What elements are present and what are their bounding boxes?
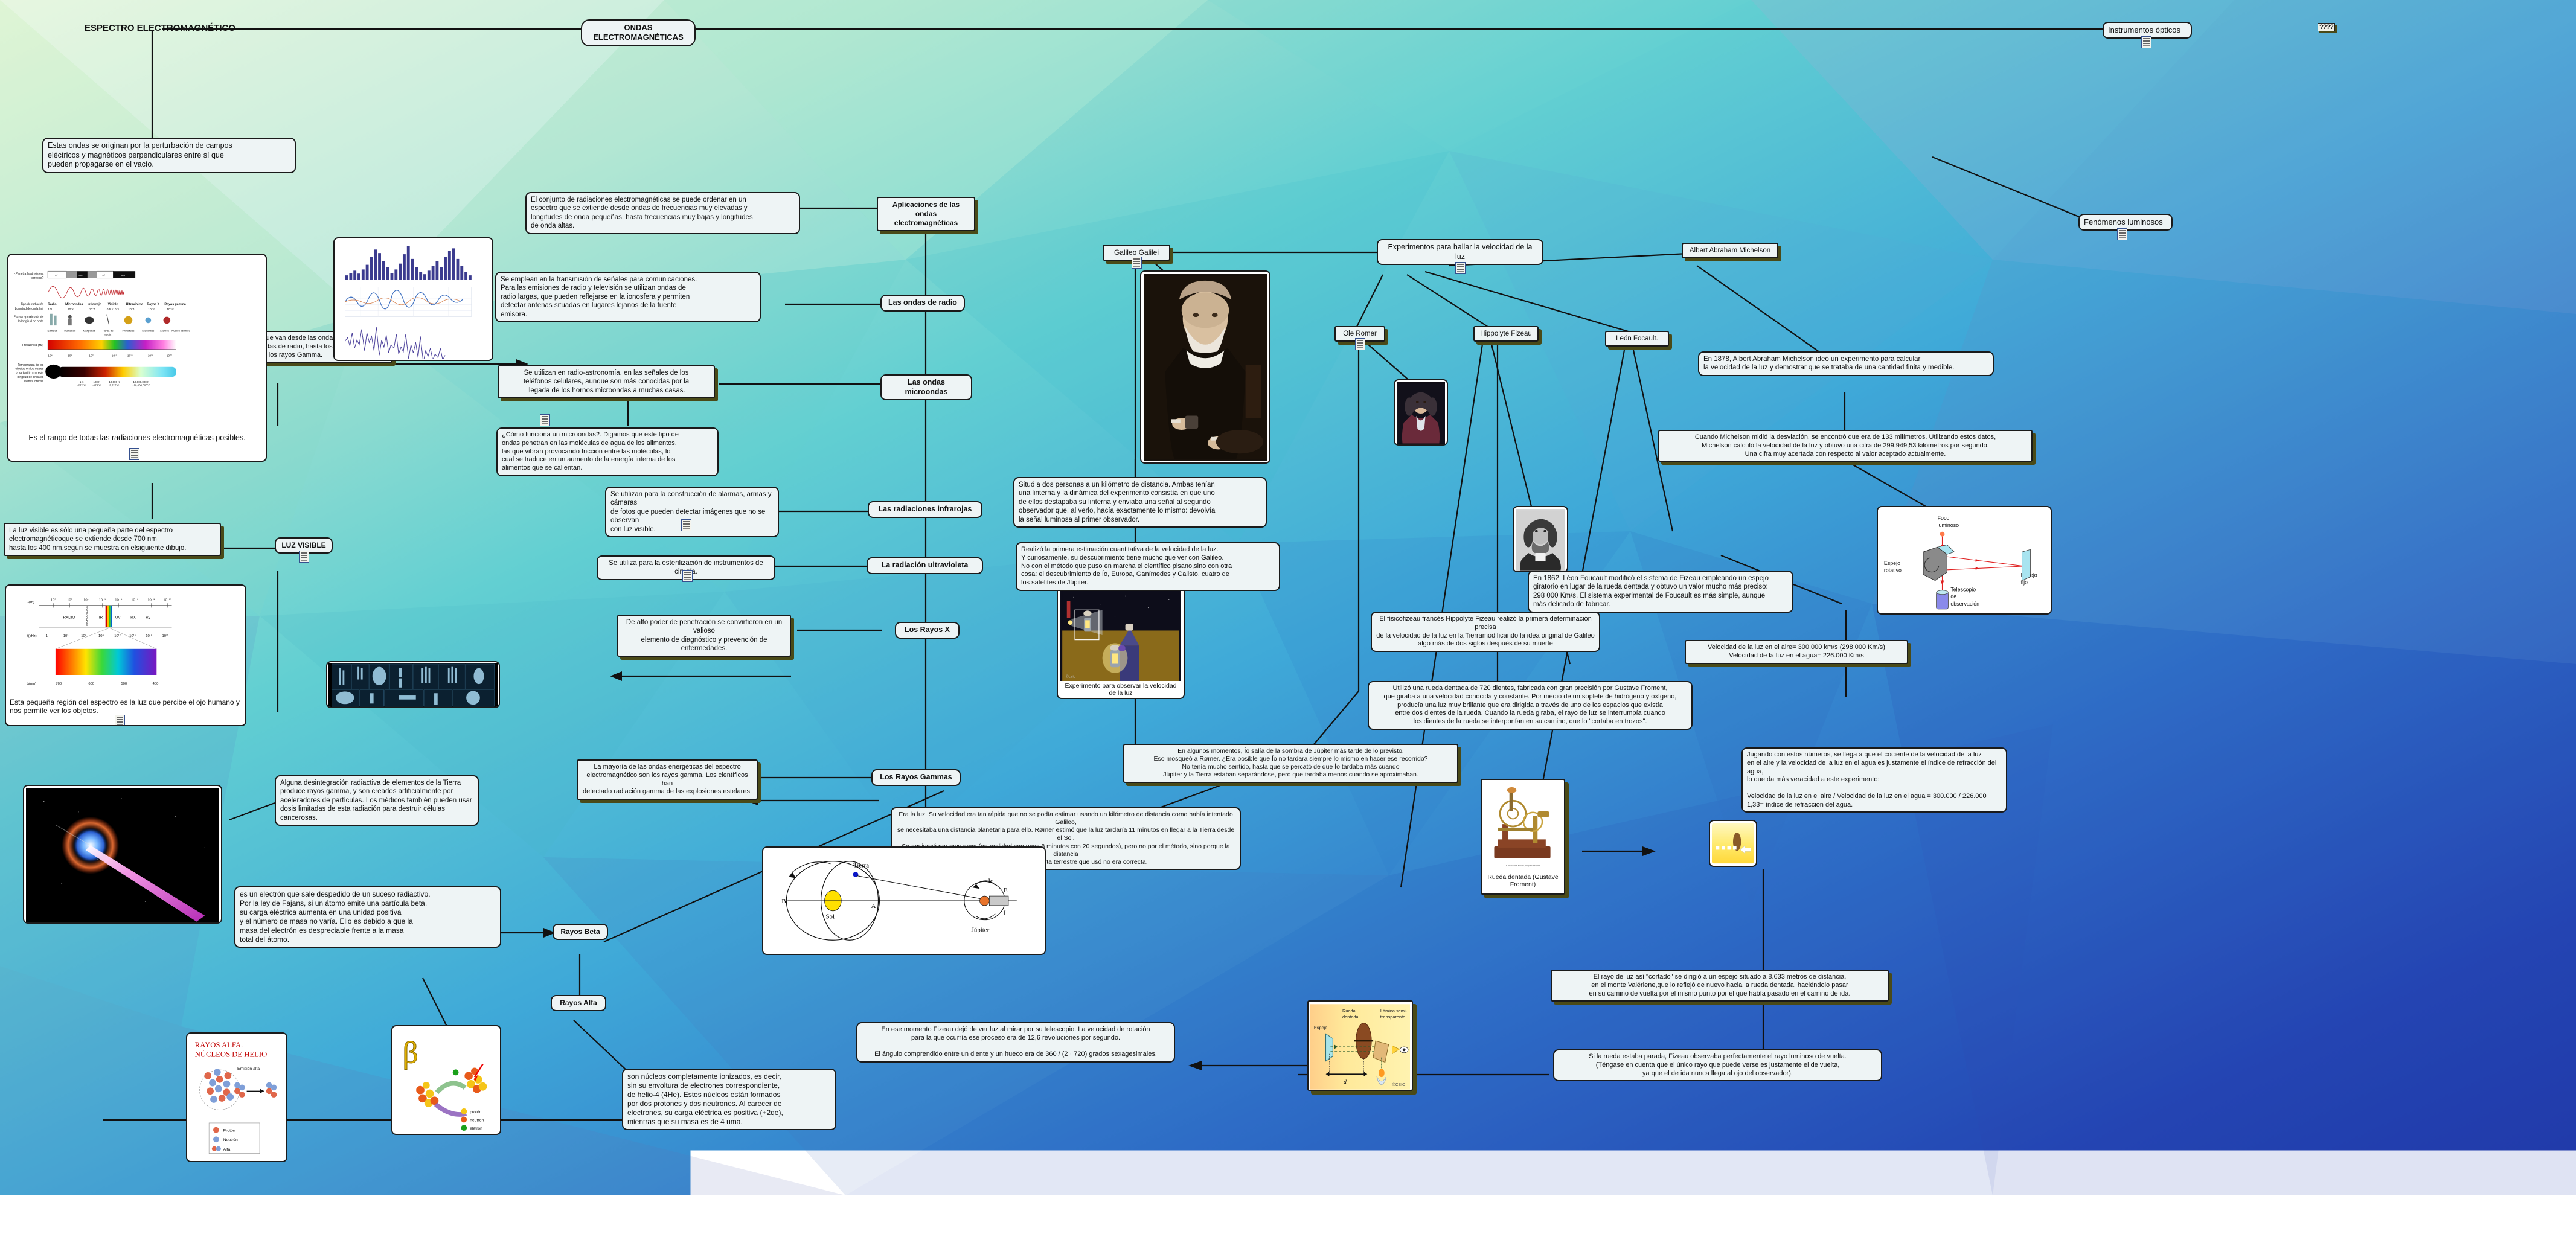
node-rayos-x-desc[interactable]: De alto poder de penetración se convirti… [617,615,791,657]
note-icon[interactable] [299,551,309,563]
svg-text:RADIO: RADIO [63,615,75,619]
node-experimentos-velocidad-luz[interactable]: Experimentos para hallar la velocidad de… [1377,239,1543,265]
svg-text:β: β [403,1036,418,1070]
node-galileo-desc[interactable]: Situó a dos personas a un kilómetro de d… [1013,477,1267,528]
node-infrarojas-desc[interactable]: Se utilizan para la construcción de alar… [605,487,779,537]
svg-text:10⁻¹⁰: 10⁻¹⁰ [148,308,155,312]
picture-luz-visible-espectro[interactable]: λ(m) 10⁵10³10¹ 10⁻¹10⁻⁴10⁻⁶ 10⁻⁹10⁻¹⁵ RA… [5,584,246,726]
node-fenomenos-luminosos[interactable]: Fenómenos luminosos [2078,214,2173,231]
note-icon[interactable] [681,519,691,531]
picture-radiografias-rayos-x[interactable] [326,661,500,708]
picture-desintegracion-beta[interactable]: β prótón nêutron elétron [391,1025,501,1135]
node-michelson-desc[interactable]: En 1878, Albert Abraham Michelson ideó u… [1698,351,1994,376]
svg-text:10⁻⁹: 10⁻⁹ [147,598,155,603]
svg-text:10³: 10³ [67,599,72,603]
svg-text:Átomos: Átomos [160,329,170,333]
svg-text:10¹⁵: 10¹⁵ [129,634,136,638]
node-origen-ondas[interactable]: Estas ondas se originan por la perturbac… [42,138,296,173]
node-fizeau-desc5[interactable]: En ese momento Fizeau dejó de ver luz al… [856,1022,1175,1063]
svg-text:Espejo: Espejo [1314,1025,1328,1031]
svg-text:Infrarrojo: Infrarrojo [88,302,101,306]
node-indice-refraccion[interactable]: Jugando con estos números, se llega a qu… [1741,747,2007,813]
svg-text:Neutrón: Neutrón [223,1138,238,1142]
svg-text:Sí: Sí [55,274,58,278]
svg-text:Espejo: Espejo [1884,560,1900,566]
node-microondas-desc2[interactable]: ¿Cómo funciona un microondas?. Digamos q… [496,427,719,476]
node-albert-michelson[interactable]: Albert Abraham Michelson [1682,243,1778,258]
note-icon[interactable] [682,570,693,582]
svg-text:10⁵: 10⁵ [51,598,57,603]
svg-text:Sí: Sí [102,274,105,278]
note-icon[interactable] [2141,36,2151,48]
svg-text:terrestre?: terrestre? [31,276,44,280]
node-ole-romer[interactable]: Ole Romer [1334,326,1385,342]
node-radiaciones-infrarojas[interactable]: Las radiaciones infrarojas [868,501,982,518]
svg-text:10¹²: 10¹² [114,634,120,638]
svg-text:0.5 x10⁻⁶: 0.5 x10⁻⁶ [107,308,119,312]
svg-text:aguja: aguja [104,333,111,336]
svg-text:10¹⁶: 10¹⁶ [127,354,133,357]
svg-text:10⁹: 10⁹ [98,634,104,638]
svg-text:Mariposas: Mariposas [83,330,95,333]
node-rayos-x[interactable]: Los Rayos X [895,622,960,639]
caption-rueda-dentada: Rueda dentada (Gustave Froment) [1484,872,1562,889]
svg-text:©CSIC: ©CSIC [1392,1082,1405,1087]
node-rayos-alfa-desc[interactable]: son núcleos completamente ionizados, es … [622,1069,836,1130]
svg-text:10³: 10³ [48,308,52,312]
svg-text:10⁻⁸: 10⁻⁸ [129,308,135,312]
svg-text:Temperatura de los: Temperatura de los [18,363,43,367]
note-icon[interactable] [1132,257,1142,269]
svg-text:10³: 10³ [63,634,69,638]
node-romer-desc2[interactable]: En algunos momentos, Ío salía de la somb… [1123,744,1458,783]
svg-text:IR: IR [99,615,103,619]
svg-text:-173°C: -173°C [92,384,101,387]
caption-espectro: Es el rango de todas las radiaciones ele… [11,432,263,443]
svg-text:Microondas: Microondas [65,302,83,306]
svg-text:RAYOS ALFA.: RAYOS ALFA. [195,1041,243,1049]
svg-text:Moléculas: Moléculas [142,330,155,333]
svg-text:Rueda: Rueda [1342,1008,1356,1014]
svg-text:10⁻⁴: 10⁻⁴ [115,598,123,603]
node-ondas-radio-desc[interactable]: Se emplean en la transmisión de señales … [495,272,761,322]
svg-text:10⁴: 10⁴ [48,354,52,357]
svg-text:10¹²: 10¹² [89,354,94,357]
svg-text:Visible: Visible [108,302,118,306]
svg-text:10⁻¹: 10⁻¹ [99,599,106,603]
node-rayos-gamma-desc[interactable]: La mayoría de las ondas energéticas del … [577,759,758,800]
svg-text:©csic: ©csic [1066,674,1076,679]
picture-galileo-portrait[interactable] [1140,270,1270,464]
node-leon-focault[interactable]: León Focault. [1605,331,1669,347]
node-ondas-microondas[interactable]: Las ondas microondas [880,374,972,400]
svg-text:No: No [121,274,125,278]
node-focault-desc[interactable]: En 1862, Léon Foucault modificó el siste… [1528,571,1793,613]
svg-text:Radio: Radio [48,302,57,306]
svg-text:600: 600 [88,682,95,686]
caption-experimento-galileo: Experimento para observar la velocidad d… [1060,681,1181,697]
svg-text:10²¹: 10²¹ [162,634,168,638]
svg-text:Punta de: Punta de [103,330,114,333]
node-velocidades-luz[interactable]: Velocidad de la luz en el aire= 300.000 … [1685,640,1908,664]
node-rayos-alfa[interactable]: Rayos Alfa [551,995,606,1011]
svg-text:Tierra: Tierra [853,862,869,869]
svg-text:elétron: elétron [470,1127,482,1131]
node-hippolyte-fizeau[interactable]: Hippolyte Fizeau [1473,326,1539,342]
svg-text:10⁻⁵: 10⁻⁵ [89,308,95,312]
picture-diagrama-fizeau[interactable]: Ruedadentada Lámina semi-transparente Es… [1307,1000,1413,1091]
svg-text:Rayos X: Rayos X [147,302,159,306]
svg-text:A: A [871,903,876,910]
node-rayos-gamma-desc2[interactable]: Alguna desintegración radiactiva de elem… [275,775,479,826]
svg-text:Rγ: Rγ [146,615,151,619]
root-node-ondas-electromagneticas[interactable]: ONDAS ELECTROMAGNÉTICAS [581,19,696,46]
svg-text:NÚCLEOS DE HELIO: NÚCLEOS DE HELIO [195,1050,268,1059]
svg-text:transparente: transparente [1380,1014,1405,1020]
svg-text:Protón: Protón [223,1129,235,1133]
svg-text:Edificios: Edificios [48,330,58,333]
node-aplicaciones-ondas[interactable]: Aplicaciones de las ondas electromagnéti… [877,197,975,231]
svg-text:Rayos gamma: Rayos gamma [164,302,185,306]
svg-text:10⁻²: 10⁻² [68,308,74,312]
note-icon[interactable] [115,715,125,726]
svg-text:I: I [1004,910,1006,917]
svg-text:Sol: Sol [826,913,835,921]
svg-text:Foco: Foco [1938,515,1950,521]
picture-rueda-dentada-froment[interactable]: Collection Ecole polytechnique Rueda den… [1481,779,1565,895]
picture-orbita-tierra-jupiter[interactable]: Sol B A Tierra Io E I Júpiter [762,846,1046,955]
svg-text:No: No [78,274,82,278]
node-galileo-galilei[interactable]: Galileo Galilei [1103,245,1170,261]
svg-text:MICROONDAS: MICROONDAS [85,606,89,626]
svg-text:UV: UV [115,615,121,619]
question-marks-node[interactable]: ???? [2318,23,2335,31]
picture-formas-de-onda[interactable] [333,237,493,361]
svg-text:100 K: 100 K [93,380,100,383]
svg-text:E: E [1004,887,1008,894]
picture-rayos-alfa-helio[interactable]: RAYOS ALFA. NÚCLEOS DE HELIO Emisión alf… [186,1032,287,1162]
svg-text:d: d [1344,1079,1347,1085]
svg-text:Frecuencia (Hz): Frecuencia (Hz) [22,344,44,347]
svg-text:luminoso: luminoso [1938,522,1959,528]
picture-espectro-electromagnetico[interactable]: ¿Penetra la atmósfera terrestre? Sí No S… [7,254,267,462]
svg-text:de: de [1950,593,1956,599]
svg-text:10⁸: 10⁸ [68,354,72,357]
node-ultravioleta-desc[interactable]: Se utiliza para la esterilización de ins… [597,555,775,580]
svg-text:B: B [781,898,786,905]
svg-text:10,000 K: 10,000 K [109,380,120,383]
svg-text:nêutron: nêutron [470,1118,484,1122]
svg-text:Júpiter: Júpiter [972,926,990,933]
svg-text:rotativo: rotativo [1884,567,1902,574]
node-radiacion-ultravioleta[interactable]: La radiación ultravioleta [867,557,983,574]
node-fizeau-desc2[interactable]: Utilizó una rueda dentada de 720 dientes… [1368,681,1693,730]
node-fizeau-desc4[interactable]: Si la rueda estaba parada, Fizeau observ… [1553,1049,1882,1081]
picture-focault-portrait[interactable] [1513,506,1568,572]
svg-text:RX: RX [130,615,136,619]
node-rayos-beta[interactable]: Rayos Beta [553,924,608,940]
node-michelson-desc2[interactable]: Cuando Michelson midió la desviación, se… [1658,430,2033,462]
svg-text:objetos en los cuales: objetos en los cuales [15,368,43,371]
svg-text:¿Penetra la atmósfera: ¿Penetra la atmósfera [14,272,44,276]
svg-text:10⁶: 10⁶ [81,634,87,638]
note-icon[interactable] [129,448,139,460]
svg-text:Lámina semi-: Lámina semi- [1380,1008,1408,1014]
svg-text:λ(m): λ(m) [27,601,34,604]
svg-text:10,000,000 K: 10,000,000 K [133,380,149,383]
svg-text:Collection Ecole polytechnique: Collection Ecole polytechnique [1506,864,1540,867]
svg-text:500: 500 [121,682,127,686]
svg-text:f(kHz): f(kHz) [27,634,37,638]
svg-text:la longitud de onda: la longitud de onda [18,319,44,323]
node-luz-visible[interactable]: LUZ VISIBLE [275,537,333,554]
root-label-espectro[interactable]: ESPECTRO ELECTROMAGNÉTICO [85,23,235,34]
svg-text:10¹⁵: 10¹⁵ [112,354,117,357]
node-rayos-beta-desc[interactable]: es un electrón que sale despedido de un … [234,886,501,948]
svg-text:prótón: prótón [470,1110,482,1114]
picture-experimento-linternas[interactable]: ©csic Experimento para observar la veloc… [1057,587,1185,699]
svg-text:Emisión alfa: Emisión alfa [237,1067,260,1071]
svg-text:Io: Io [988,877,994,884]
note-icon[interactable] [2117,228,2127,240]
svg-text:10¹: 10¹ [83,599,89,603]
svg-text:9,727°C: 9,727°C [109,384,120,387]
node-ondas-de-radio[interactable]: Las ondas de radio [880,295,965,312]
node-rayos-gammas[interactable]: Los Rayos Gammas [871,769,961,786]
svg-text:10⁻⁶: 10⁻⁶ [131,598,139,603]
svg-text:λ(nm): λ(nm) [27,682,36,686]
svg-text:10⁻¹²: 10⁻¹² [167,308,174,312]
svg-text:longitud de onda es: longitud de onda es [18,376,44,379]
svg-text:1 K: 1 K [80,380,84,383]
note-icon[interactable] [540,414,550,426]
node-fizeau-desc3[interactable]: El rayo de luz así "cortado" se dirigió … [1551,970,1889,1002]
svg-text:Telescopio: Telescopio [1950,586,1976,592]
svg-text:Núcleo atómico: Núcleo atómico [171,330,190,333]
node-fizeau-desc[interactable]: El físicofizeau francés Hippolyte Fizeau… [1371,612,1600,652]
node-romer-desc[interactable]: Realizó la primera estimación cuantitati… [1016,542,1280,591]
node-definicion-espectro[interactable]: El conjunto de radiaciones electromagnét… [525,192,800,234]
svg-text:10¹⁸: 10¹⁸ [146,634,152,638]
svg-text:-272°C: -272°C [77,384,86,387]
svg-text:700: 700 [56,682,62,686]
svg-text:la radiación con esta: la radiación con esta [16,371,43,375]
svg-text:observación: observación [1950,601,1979,607]
picture-rueda-animacion[interactable] [1709,820,1757,867]
svg-text:Tipo de radiación: Tipo de radiación [21,302,44,306]
svg-text:10²⁰: 10²⁰ [167,354,172,357]
background-low-poly [0,0,2576,1237]
svg-text:Protozoos: Protozoos [123,330,135,333]
svg-text:la más intensa: la más intensa [24,380,44,383]
node-luz-visible-desc[interactable]: La luz visible es sólo una pequeña parte… [4,523,221,556]
node-instrumentos-opticos[interactable]: Instrumentos ópticos [2103,22,2192,39]
svg-text:400: 400 [153,682,159,686]
node-microondas-desc[interactable]: Se utilizan en radio-astronomía, en las … [498,365,715,398]
picture-ole-romer-portrait[interactable] [1394,379,1448,446]
picture-diagrama-michelson[interactable]: Focoluminoso Espejorotativo Espejofijo T… [1877,506,2052,615]
svg-text:1: 1 [46,634,48,638]
svg-text:Ultravioleta: Ultravioleta [126,302,144,306]
svg-text:10⁻¹⁵: 10⁻¹⁵ [163,598,172,603]
svg-text:Humanos: Humanos [64,330,76,333]
svg-text:dentada: dentada [1342,1014,1359,1020]
svg-text:Longitud de onda (m): Longitud de onda (m) [15,307,44,311]
caption-luz-visible: Esta pequeña región del espectro es la l… [8,697,243,715]
picture-explosion-gamma[interactable] [23,785,222,924]
svg-text:10¹⁸: 10¹⁸ [148,354,153,357]
svg-text:Escala aproximada de: Escala aproximada de [14,316,44,319]
svg-text:Alfa: Alfa [223,1148,231,1152]
note-icon[interactable] [1455,262,1466,274]
note-icon[interactable] [1355,338,1365,350]
svg-text:~10,000,000°C: ~10,000,000°C [132,384,151,387]
